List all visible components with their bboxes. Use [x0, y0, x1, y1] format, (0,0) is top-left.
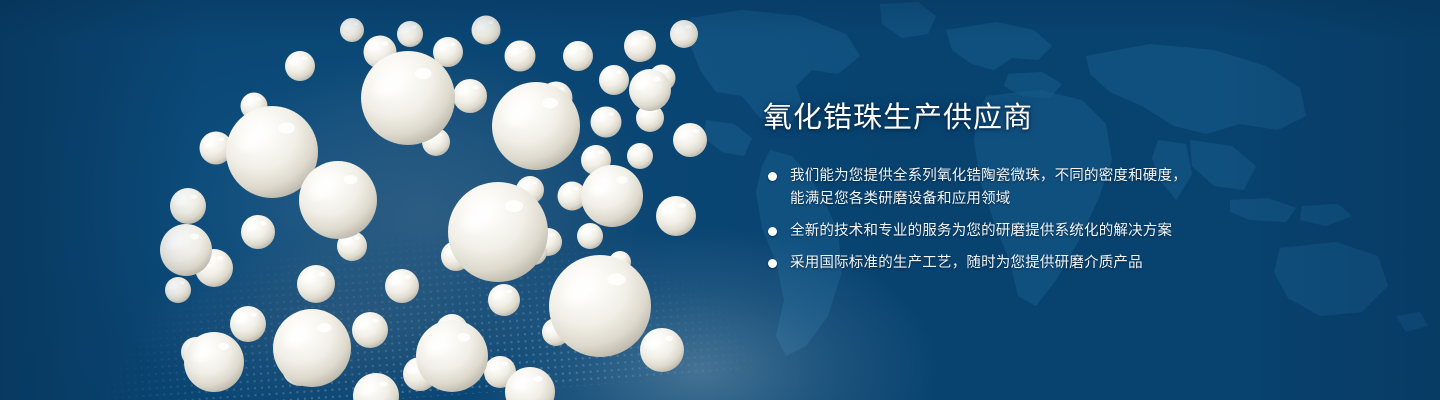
list-item: 采用国际标准的生产工艺，随时为您提供研磨介质产品: [763, 252, 1323, 275]
bullet-dot-icon: [768, 227, 777, 236]
feature-list: 我们能为您提供全系列氧化锆陶瓷微珠，不同的密度和硬度， 能满足您各类研磨设备和应…: [763, 165, 1323, 275]
list-item: 我们能为您提供全系列氧化锆陶瓷微珠，不同的密度和硬度， 能满足您各类研磨设备和应…: [763, 165, 1323, 211]
bullet-dot-icon: [768, 172, 777, 181]
list-item-line-2: 能满足您各类研磨设备和应用领域: [790, 188, 1323, 211]
banner-content: 氧化锆珠生产供应商 我们能为您提供全系列氧化锆陶瓷微珠，不同的密度和硬度， 能满…: [763, 103, 1323, 275]
page-title: 氧化锆珠生产供应商: [763, 103, 1323, 133]
hero-banner: 氧化锆珠生产供应商 我们能为您提供全系列氧化锆陶瓷微珠，不同的密度和硬度， 能满…: [0, 0, 1440, 400]
list-item: 全新的技术和专业的服务为您的研磨提供系统化的解决方案: [763, 220, 1323, 243]
list-item-line-1: 采用国际标准的生产工艺，随时为您提供研磨介质产品: [790, 255, 1143, 271]
list-item-line-1: 全新的技术和专业的服务为您的研磨提供系统化的解决方案: [790, 223, 1172, 239]
bullet-dot-icon: [768, 259, 777, 268]
list-item-line-1: 我们能为您提供全系列氧化锆陶瓷微珠，不同的密度和硬度，: [790, 168, 1187, 184]
